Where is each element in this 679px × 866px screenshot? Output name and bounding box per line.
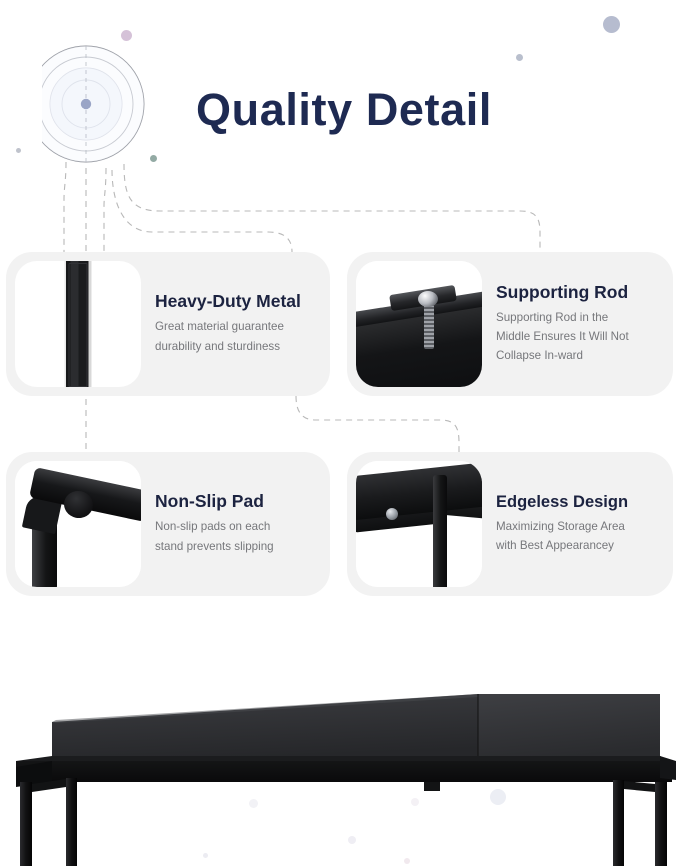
card-description: Non-slip pads on each stand prevents sli… bbox=[155, 517, 322, 555]
black-desk-product-photo bbox=[0, 630, 679, 866]
card-desc-line: Supporting Rod in the bbox=[496, 308, 665, 327]
card-desc-line: Middle Ensures It Will Not bbox=[496, 327, 665, 346]
card-desc-line: with Best Appearancey bbox=[496, 536, 665, 555]
card-desc-line: Great material guarantee bbox=[155, 317, 322, 336]
card-title: Heavy-Duty Metal bbox=[155, 292, 322, 311]
card-description: Great material guarantee durability and … bbox=[155, 317, 322, 355]
card-desc-line: Maximizing Storage Area bbox=[496, 517, 665, 536]
card-title: Edgeless Design bbox=[496, 493, 665, 511]
photo-supporting-rod bbox=[356, 261, 482, 387]
feature-card-non-slip-pad[interactable]: Non-Slip Pad Non-slip pads on each stand… bbox=[6, 452, 330, 596]
card-description: Supporting Rod in the Middle Ensures It … bbox=[496, 308, 665, 366]
card-desc-line: stand prevents slipping bbox=[155, 537, 322, 556]
card-desc-line: Collapse In-ward bbox=[496, 346, 665, 365]
card-text-block: Non-Slip Pad Non-slip pads on each stand… bbox=[141, 492, 330, 556]
quality-detail-infographic: Quality Detail Heavy-Duty Metal Great ma… bbox=[0, 0, 679, 866]
photo-black-metal-bar bbox=[15, 261, 141, 387]
non-slip-pad-shape bbox=[15, 461, 141, 587]
card-desc-line: Non-slip pads on each bbox=[155, 517, 322, 536]
card-text-block: Supporting Rod Supporting Rod in the Mid… bbox=[482, 283, 673, 366]
photo-non-slip-pad bbox=[15, 461, 141, 587]
photo-edgeless-corner bbox=[356, 461, 482, 587]
metal-bar-shape bbox=[65, 261, 92, 387]
card-desc-line: durability and sturdiness bbox=[155, 337, 322, 356]
feature-card-heavy-duty-metal[interactable]: Heavy-Duty Metal Great material guarante… bbox=[6, 252, 330, 396]
feature-card-edgeless-design[interactable]: Edgeless Design Maximizing Storage Area … bbox=[347, 452, 673, 596]
supporting-rod-shape bbox=[356, 261, 482, 387]
edgeless-corner-shape bbox=[356, 461, 482, 587]
card-title: Non-Slip Pad bbox=[155, 492, 322, 511]
card-description: Maximizing Storage Area with Best Appear… bbox=[496, 517, 665, 555]
feature-card-supporting-rod[interactable]: Supporting Rod Supporting Rod in the Mid… bbox=[347, 252, 673, 396]
card-text-block: Heavy-Duty Metal Great material guarante… bbox=[141, 292, 330, 356]
card-title: Supporting Rod bbox=[496, 283, 665, 302]
card-text-block: Edgeless Design Maximizing Storage Area … bbox=[482, 493, 673, 556]
